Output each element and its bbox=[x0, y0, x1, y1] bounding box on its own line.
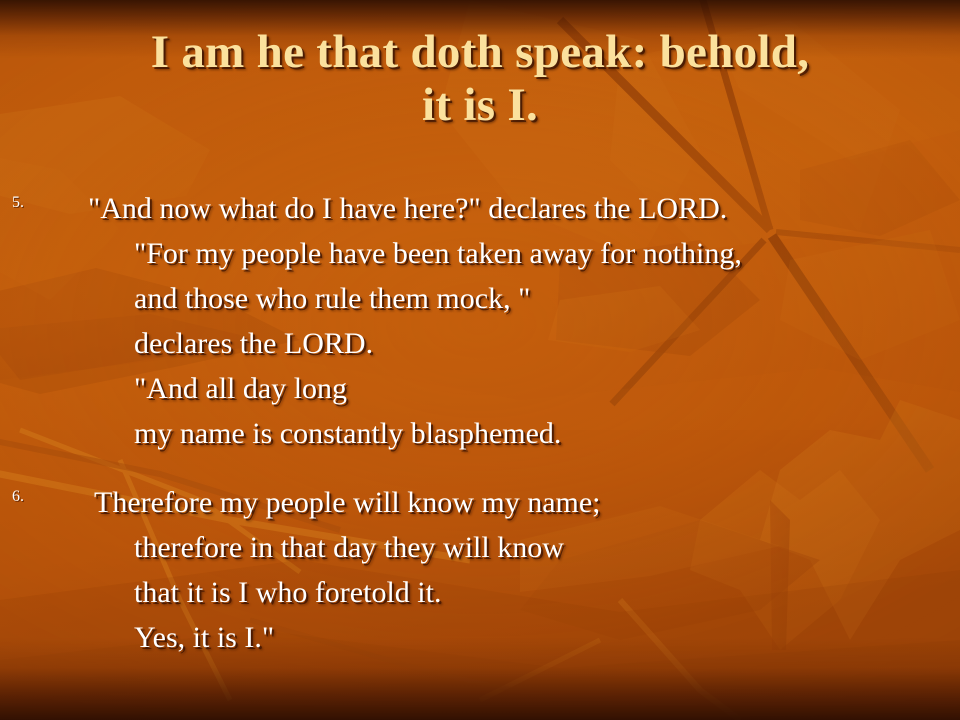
paragraph-5-line-5: "And all day long bbox=[0, 366, 960, 411]
paragraph-6-line-2: therefore in that day they will know bbox=[0, 525, 960, 570]
slide-title-line-1: I am he that doth speak: behold, bbox=[40, 26, 920, 79]
paragraph-number-6: 6. bbox=[12, 488, 42, 506]
paragraph-5-line-4: declares the LORD. bbox=[0, 321, 960, 366]
slide-title-line-2: it is I. bbox=[40, 79, 920, 132]
presentation-slide: I am he that doth speak: behold, it is I… bbox=[0, 0, 960, 720]
paragraph-6-line-1: Therefore my people will know my name; bbox=[0, 480, 960, 525]
paragraph-6-line-4: Yes, it is I." bbox=[0, 615, 960, 660]
paragraph-5-line-3: and those who rule them mock, " bbox=[0, 276, 960, 321]
paragraph-number-5: 5. bbox=[12, 194, 42, 212]
paragraph-6-line-3: that it is I who foretold it. bbox=[0, 570, 960, 615]
slide-title: I am he that doth speak: behold, it is I… bbox=[40, 26, 920, 132]
slide-body: 5. "And now what do I have here?" declar… bbox=[0, 186, 960, 660]
numbered-paragraph-5: 5. "And now what do I have here?" declar… bbox=[0, 186, 960, 456]
paragraph-5-line-1: "And now what do I have here?" declares … bbox=[0, 186, 960, 231]
numbered-paragraph-6: 6. Therefore my people will know my name… bbox=[0, 480, 960, 660]
paragraph-5-lines: "And now what do I have here?" declares … bbox=[0, 186, 960, 456]
paragraph-5-line-2: "For my people have been taken away for … bbox=[0, 231, 960, 276]
paragraph-6-lines: Therefore my people will know my name; t… bbox=[0, 480, 960, 660]
paragraph-5-line-6: my name is constantly blasphemed. bbox=[0, 411, 960, 456]
